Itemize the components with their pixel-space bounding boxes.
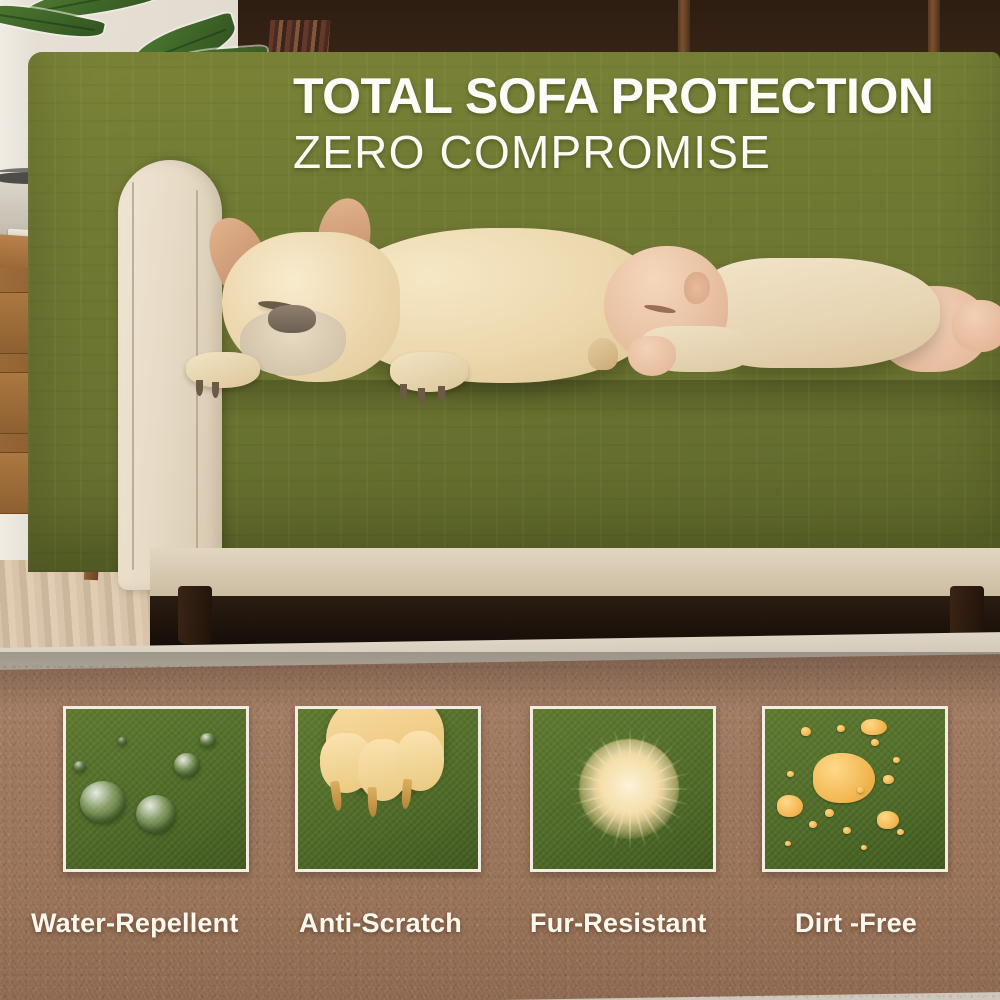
dog-claw	[418, 388, 425, 404]
sofa-base-frame	[150, 548, 1000, 600]
sofa-floor-shadow	[0, 652, 1000, 712]
dog-claw	[212, 382, 219, 398]
baby-hand	[628, 336, 676, 376]
feature-label-water-repellent: Water-Repellent	[31, 908, 239, 939]
product-lifestyle-image: TOTAL SOFA PROTECTION ZERO COMPROMISE	[0, 0, 1000, 1000]
feature-panel-dirt-free	[762, 706, 948, 872]
sofa-leg	[178, 586, 212, 644]
baby-foot	[952, 300, 1000, 352]
feature-panel-fur-resistant	[530, 706, 716, 872]
sofa-seat-shadow	[150, 380, 1000, 420]
dog-claw	[400, 384, 407, 400]
feature-panel-water-repellent	[63, 706, 249, 872]
dog-claw	[438, 386, 445, 402]
feature-panel-anti-scratch	[295, 706, 481, 872]
dog-claw	[196, 380, 203, 396]
feature-label-anti-scratch: Anti-Scratch	[299, 908, 462, 939]
feature-label-fur-resistant: Fur-Resistant	[530, 908, 707, 939]
dog-tail	[588, 338, 618, 370]
feature-label-dirt-free: Dirt -Free	[795, 908, 917, 939]
dog-nose	[268, 305, 316, 333]
